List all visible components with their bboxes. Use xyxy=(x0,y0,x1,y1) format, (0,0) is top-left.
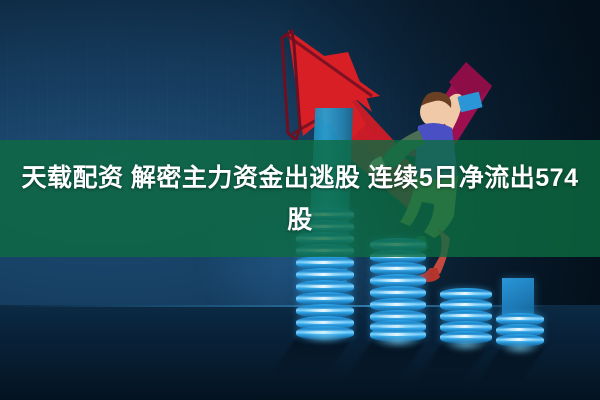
stack-4-glow xyxy=(494,340,546,356)
stack-1-glow xyxy=(294,328,356,344)
caption-text: 天载配资 解密主力资金出逃股 连续5日净流出574股 xyxy=(0,140,600,257)
stack-2-glow xyxy=(368,333,428,349)
stack-3-glow xyxy=(438,337,494,353)
banner-image: 天载配资 解密主力资金出逃股 连续5日净流出574股 xyxy=(0,0,600,400)
